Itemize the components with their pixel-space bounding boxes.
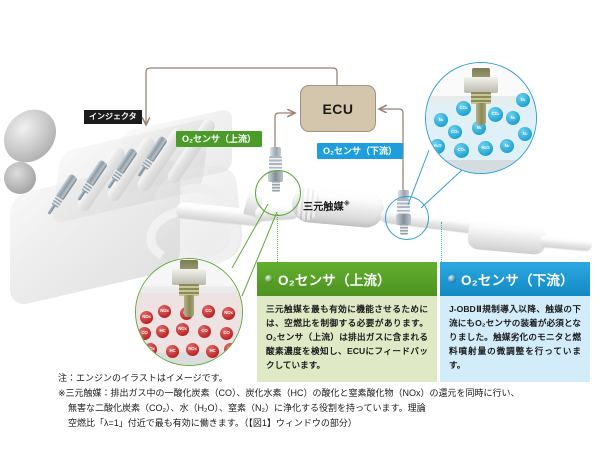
- pane-upstream-body: 三元触媒を最も有効に機能させるためには、空燃比を制御する必要があります。O₂セン…: [257, 296, 437, 382]
- footnote-line-1: 注：エンジンのイラストはイメージです。: [58, 371, 578, 386]
- diagram-canvas: 三元触媒※ ECU インジェクタ O₂センサ（上流） O₂センサ（下流）: [0, 0, 600, 450]
- bullet-dot-icon: [265, 275, 273, 283]
- footnote-line-3: 無害な二酸化炭素（CO₂）、水（H₂O）、窒素（N₂）に浄化する役割を持っていま…: [58, 401, 578, 416]
- pane-o2-downstream: O₂センサ（下流） J-OBDⅡ規制導入以降、触媒の下流にもO₂センサの装着が必…: [440, 262, 590, 382]
- footnotes: 注：エンジンのイラストはイメージです。 ※三元触媒：排出ガス中の一酸化炭素（CO…: [58, 371, 578, 430]
- downstream-pane-leader: [441, 222, 442, 262]
- pane-downstream-title: O₂センサ（下流）: [461, 269, 574, 289]
- pane-upstream-title-bar: O₂センサ（上流）: [257, 262, 437, 296]
- pane-downstream-title-bar: O₂センサ（下流）: [440, 262, 590, 296]
- footnote-line-2: ※三元触媒：排出ガス中の一酸化炭素（CO）、炭化水素（HC）の酸化と窒素酸化物（…: [58, 386, 578, 401]
- upstream-pane-leader: [277, 214, 278, 262]
- pane-o2-upstream: O₂センサ（上流） 三元触媒を最も有効に機能させるためには、空燃比を制御する必要…: [257, 262, 437, 382]
- bullet-dot-icon: [448, 275, 456, 283]
- pane-downstream-body: J-OBDⅡ規制導入以降、触媒の下流にもO₂センサの装着が必須となりました。触媒…: [440, 296, 590, 382]
- pane-upstream-title: O₂センサ（上流）: [278, 269, 391, 289]
- footnote-line-4: 空燃比「λ=1」付近で最も有効に働きます。（【図1】ウィンドウの部分）: [58, 416, 578, 431]
